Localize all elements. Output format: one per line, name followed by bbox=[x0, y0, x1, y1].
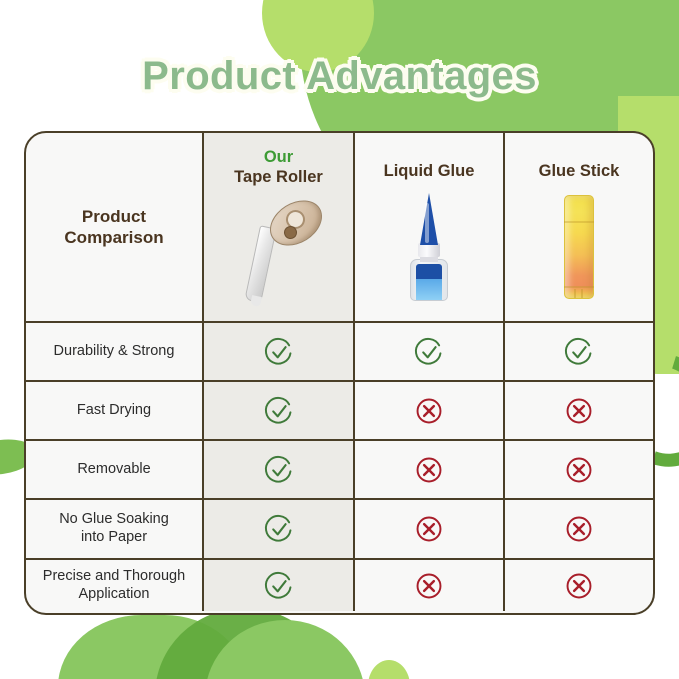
glue-fill-dark bbox=[416, 264, 442, 279]
cell-glue-stick-precise bbox=[503, 560, 653, 611]
feature-label: Durability & Strong bbox=[48, 343, 181, 361]
feature-label: Fast Drying bbox=[71, 402, 157, 420]
our-label: Our bbox=[234, 147, 323, 167]
feature-label: No Glue Soaking into Paper bbox=[53, 511, 175, 546]
glue-fill-light bbox=[416, 279, 442, 300]
cross-icon bbox=[564, 455, 594, 485]
decorative-green-circle-bottom-small bbox=[368, 660, 410, 679]
cross-icon bbox=[414, 571, 444, 601]
cross-icon bbox=[564, 396, 594, 426]
table-row: Removable bbox=[26, 439, 653, 498]
feature-label-cell: No Glue Soaking into Paper bbox=[26, 500, 202, 558]
check-icon bbox=[264, 455, 294, 485]
table-row: Durability & Strong bbox=[26, 321, 653, 380]
cross-icon bbox=[414, 514, 444, 544]
feature-label: Precise and Thorough Application bbox=[37, 568, 191, 603]
tape-roller-label: Tape Roller bbox=[234, 167, 323, 187]
column-header-our-tape-roller: Our Tape Roller bbox=[202, 133, 353, 321]
cell-liquid-glue-removable bbox=[353, 441, 503, 498]
check-icon bbox=[564, 337, 594, 367]
cell-ours-no-soaking bbox=[202, 500, 353, 558]
feature-label-line2: Application bbox=[79, 586, 150, 602]
feature-label-line2: into Paper bbox=[81, 529, 147, 545]
corner-label-line1: Product bbox=[82, 207, 146, 226]
column-header-glue-stick: Glue Stick bbox=[503, 133, 653, 321]
our-tape-roller-heading: Our Tape Roller bbox=[234, 133, 323, 187]
glue-bottle-body bbox=[410, 259, 448, 301]
cell-liquid-glue-fast-drying bbox=[353, 382, 503, 439]
feature-label-cell: Fast Drying bbox=[26, 382, 202, 439]
tape-roller-tip bbox=[250, 295, 262, 307]
glue-stick-cap-seam bbox=[564, 221, 594, 223]
cell-glue-stick-removable bbox=[503, 441, 653, 498]
cross-icon bbox=[414, 455, 444, 485]
infographic-canvas: Product Advantages Product Comparison Ou… bbox=[0, 0, 679, 679]
cell-liquid-glue-durability bbox=[353, 323, 503, 380]
table-row: No Glue Soaking into Paper bbox=[26, 498, 653, 558]
glue-stick-label: Glue Stick bbox=[539, 133, 620, 181]
glue-stick-body bbox=[564, 195, 594, 299]
liquid-glue-bottle-image bbox=[398, 191, 460, 303]
table-row: Precise and Thorough Application bbox=[26, 558, 653, 611]
table-corner-header: Product Comparison bbox=[26, 133, 202, 321]
glue-stick-base-seam bbox=[564, 286, 594, 288]
cell-liquid-glue-precise bbox=[353, 560, 503, 611]
cell-ours-removable bbox=[202, 441, 353, 498]
check-icon bbox=[414, 337, 444, 367]
check-icon bbox=[264, 337, 294, 367]
corner-label-line2: Comparison bbox=[64, 228, 163, 247]
feature-label-cell: Removable bbox=[26, 441, 202, 498]
cell-glue-stick-fast-drying bbox=[503, 382, 653, 439]
glue-stick-ridge-1 bbox=[574, 289, 576, 298]
feature-label-cell: Precise and Thorough Application bbox=[26, 560, 202, 611]
check-icon bbox=[264, 514, 294, 544]
cross-icon bbox=[564, 571, 594, 601]
cell-ours-precise bbox=[202, 560, 353, 611]
cell-glue-stick-no-soaking bbox=[503, 500, 653, 558]
glue-stick-ridge-2 bbox=[581, 289, 583, 298]
product-comparison-label: Product Comparison bbox=[64, 206, 163, 249]
cross-icon bbox=[564, 514, 594, 544]
glue-bottle-cap-highlight bbox=[425, 203, 429, 243]
table-row: Fast Drying bbox=[26, 380, 653, 439]
glue-stick-product-image bbox=[556, 191, 602, 303]
feature-label-line1: No Glue Soaking bbox=[59, 511, 169, 527]
check-icon bbox=[264, 571, 294, 601]
feature-label-cell: Durability & Strong bbox=[26, 323, 202, 380]
glue-bottle-collar bbox=[418, 243, 440, 257]
glue-bottle-cap bbox=[420, 193, 438, 245]
check-icon bbox=[264, 396, 294, 426]
cell-glue-stick-durability bbox=[503, 323, 653, 380]
cell-ours-durability bbox=[202, 323, 353, 380]
liquid-glue-label: Liquid Glue bbox=[384, 133, 475, 181]
table-header-row: Product Comparison Our Tape Roller bbox=[26, 133, 653, 321]
cross-icon bbox=[414, 396, 444, 426]
cell-liquid-glue-no-soaking bbox=[353, 500, 503, 558]
column-header-liquid-glue: Liquid Glue bbox=[353, 133, 503, 321]
product-comparison-table: Product Comparison Our Tape Roller bbox=[24, 131, 655, 615]
feature-label: Removable bbox=[71, 461, 156, 479]
cell-ours-fast-drying bbox=[202, 382, 353, 439]
page-title: Product Advantages bbox=[0, 54, 679, 99]
feature-label-line1: Precise and Thorough bbox=[43, 568, 185, 584]
tape-roller-product-image bbox=[234, 197, 324, 309]
